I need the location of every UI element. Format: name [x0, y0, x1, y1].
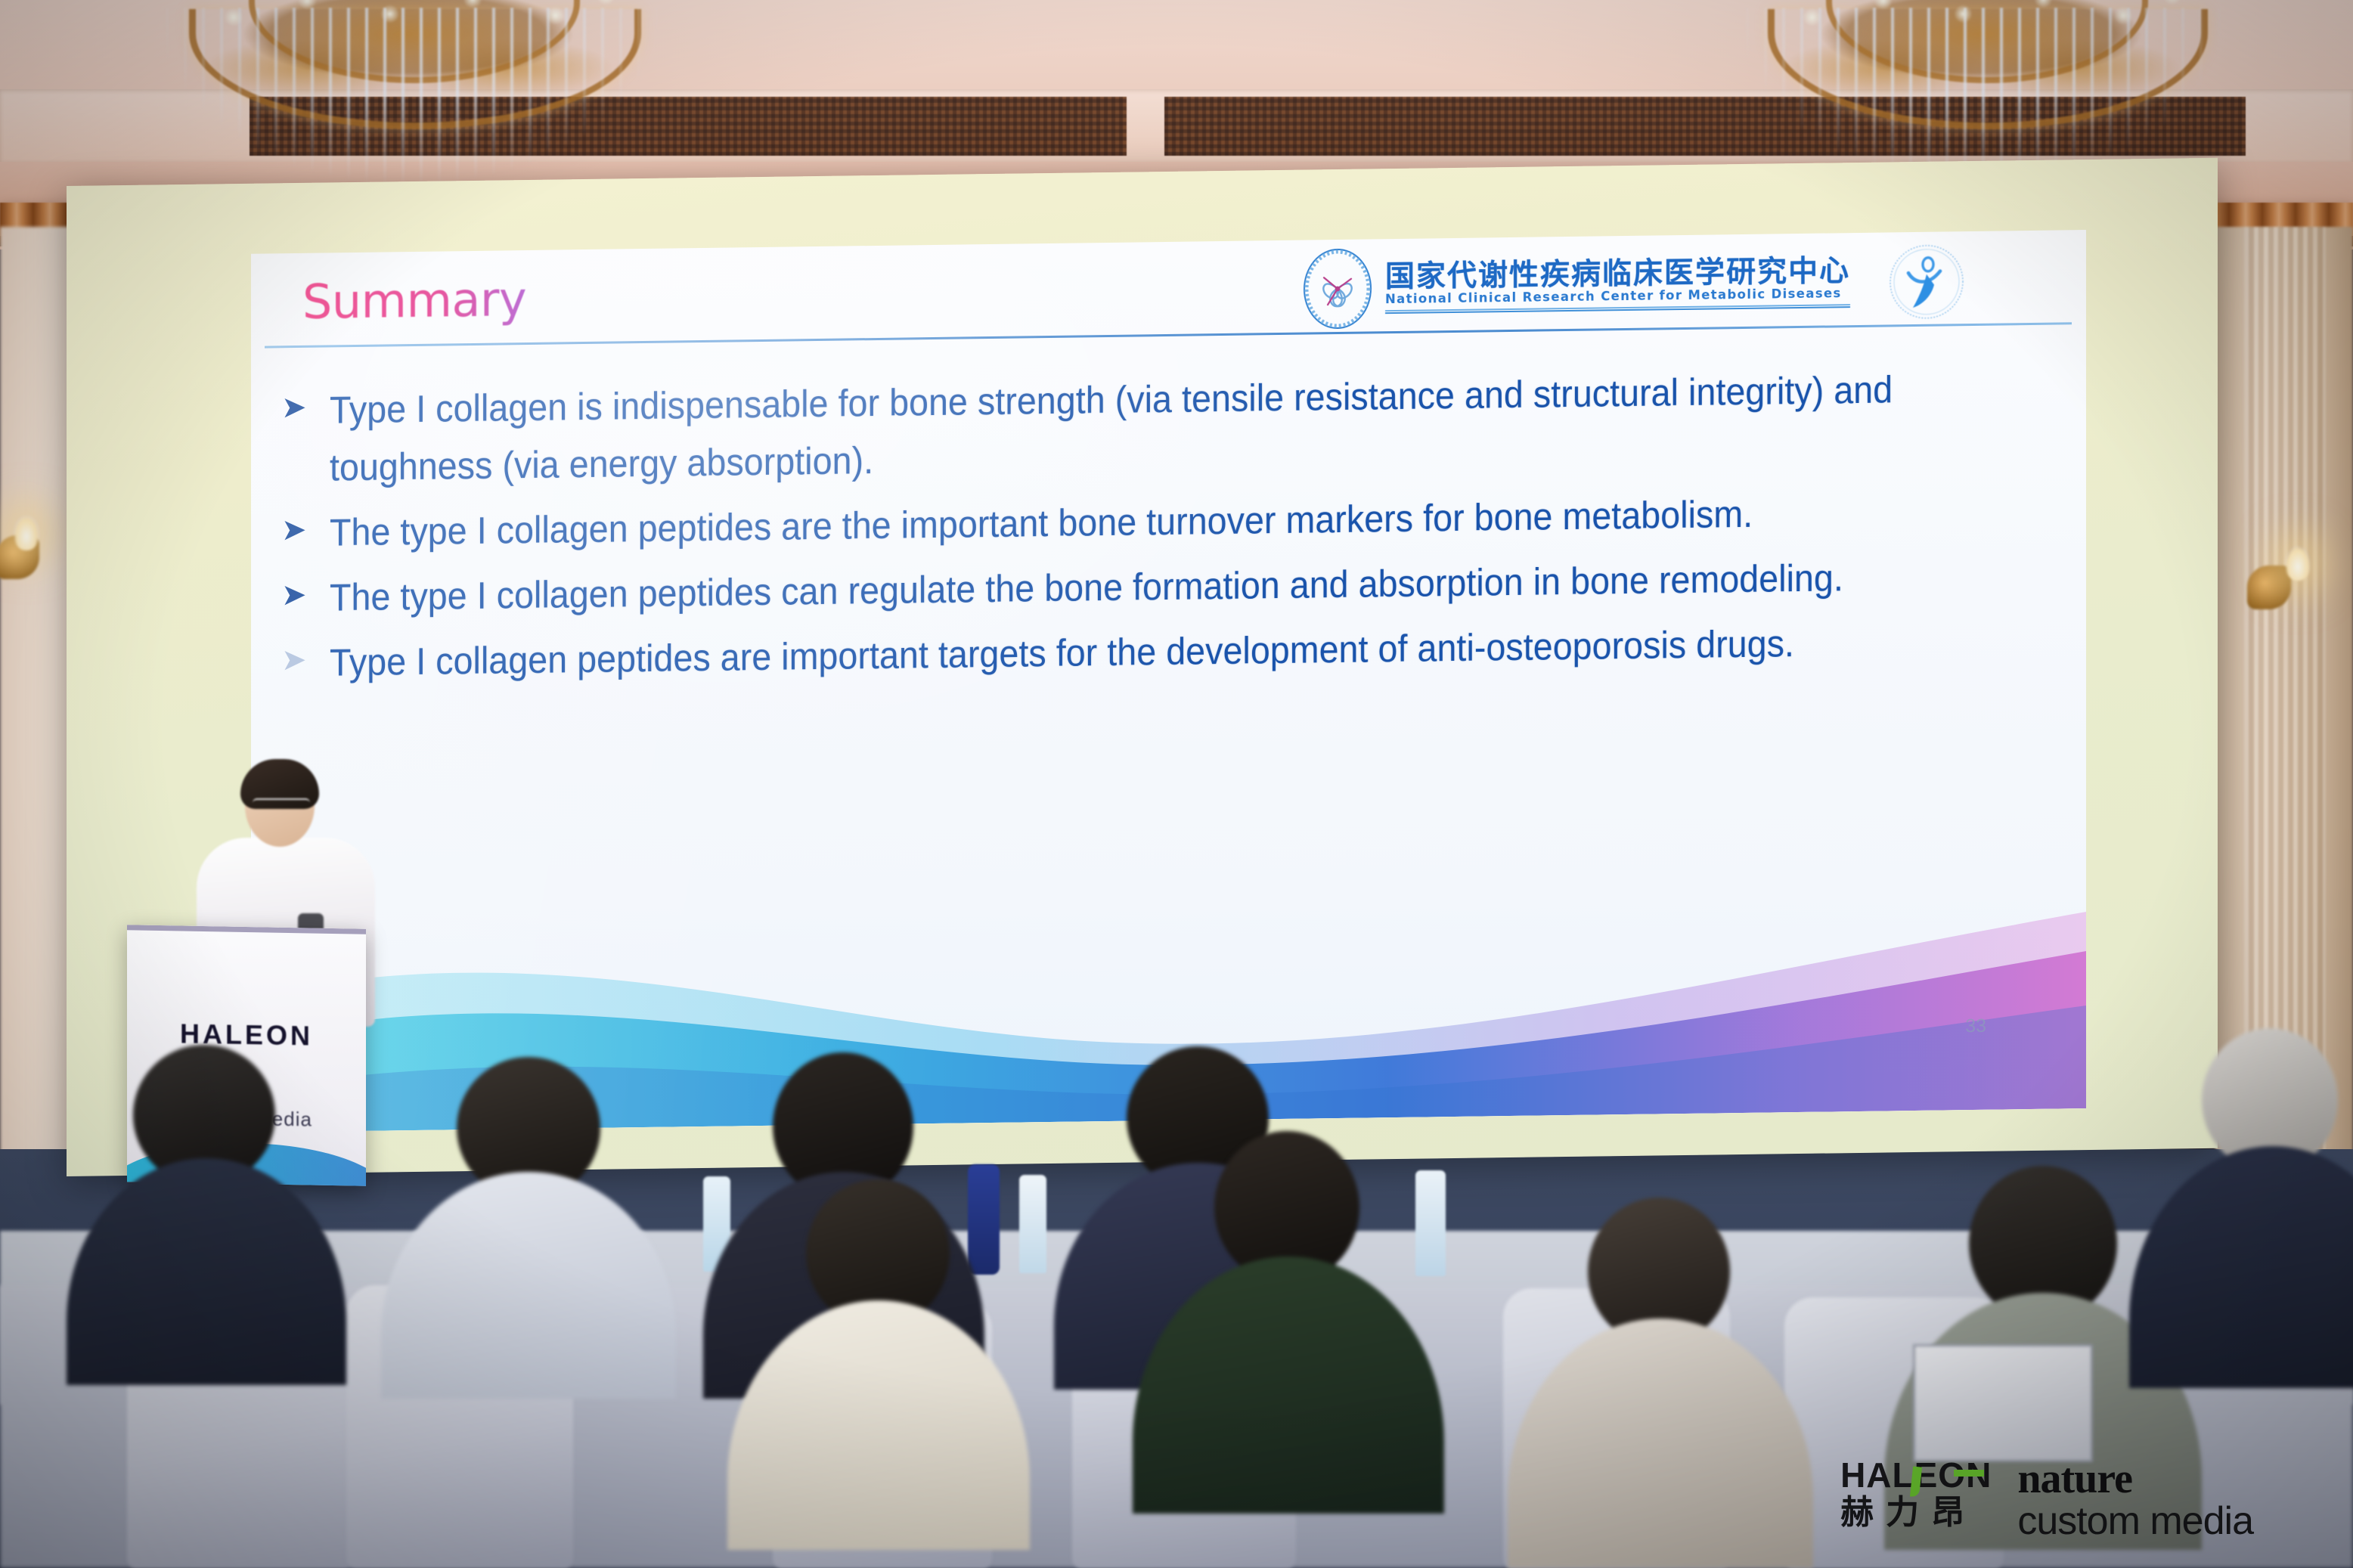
logo-circular-figure-emblem: [1886, 240, 1967, 323]
water-bottle: [1415, 1170, 1446, 1276]
title-divider: [265, 322, 2072, 348]
slide-bullet-list: ➤ Type I collagen is indispensable for b…: [281, 358, 2066, 699]
bullet-text: The type I collagen peptides can regulat…: [330, 549, 1843, 626]
bullet-text: Type I collagen is indispensable for bon…: [330, 360, 1944, 496]
bullet-arrow-icon: ➤: [281, 634, 330, 692]
water-bottle: [1019, 1175, 1046, 1273]
bullet-text: The type I collagen peptides are the imp…: [330, 485, 1753, 562]
bullet-text: Type I collagen peptides are important t…: [330, 615, 1794, 691]
podium-brand: HALEON: [127, 1017, 366, 1053]
slide-canvas: Summary: [251, 230, 2086, 1133]
slide-number: 33: [1965, 1015, 1986, 1037]
watermark-haleon-cn: 赫力昂: [1840, 1495, 1992, 1530]
bullet-arrow-icon: ➤: [281, 381, 330, 497]
bullet-arrow-icon: ➤: [281, 504, 330, 562]
haleon-accent-bar-icon: [1954, 1470, 1984, 1477]
watermark-nature-line1: nature: [2017, 1458, 2253, 1500]
watermark-nature: nature custom media: [2017, 1458, 2253, 1541]
logo-national-clinical-research-center: 国家代谢性疾病临床医学研究中心 National Clinical Resear…: [1301, 240, 1850, 331]
bullet-arrow-icon: ➤: [281, 569, 330, 627]
watermark-haleon: HALEON 赫力昂: [1840, 1458, 1992, 1530]
page-title: Summary: [302, 271, 526, 330]
water-bottle: [968, 1164, 1000, 1275]
watermark-logos: HALEON 赫力昂 nature custom media: [1840, 1458, 2253, 1541]
watermark-nature-line2: custom media: [2017, 1501, 2253, 1541]
projection-screen: Summary: [67, 158, 2218, 1176]
flower-emblem-icon: [1301, 246, 1375, 330]
laptop: [1913, 1344, 2093, 1462]
list-item: ➤ Type I collagen is indispensable for b…: [281, 358, 2066, 497]
conference-photo: Summary: [0, 0, 2353, 1568]
